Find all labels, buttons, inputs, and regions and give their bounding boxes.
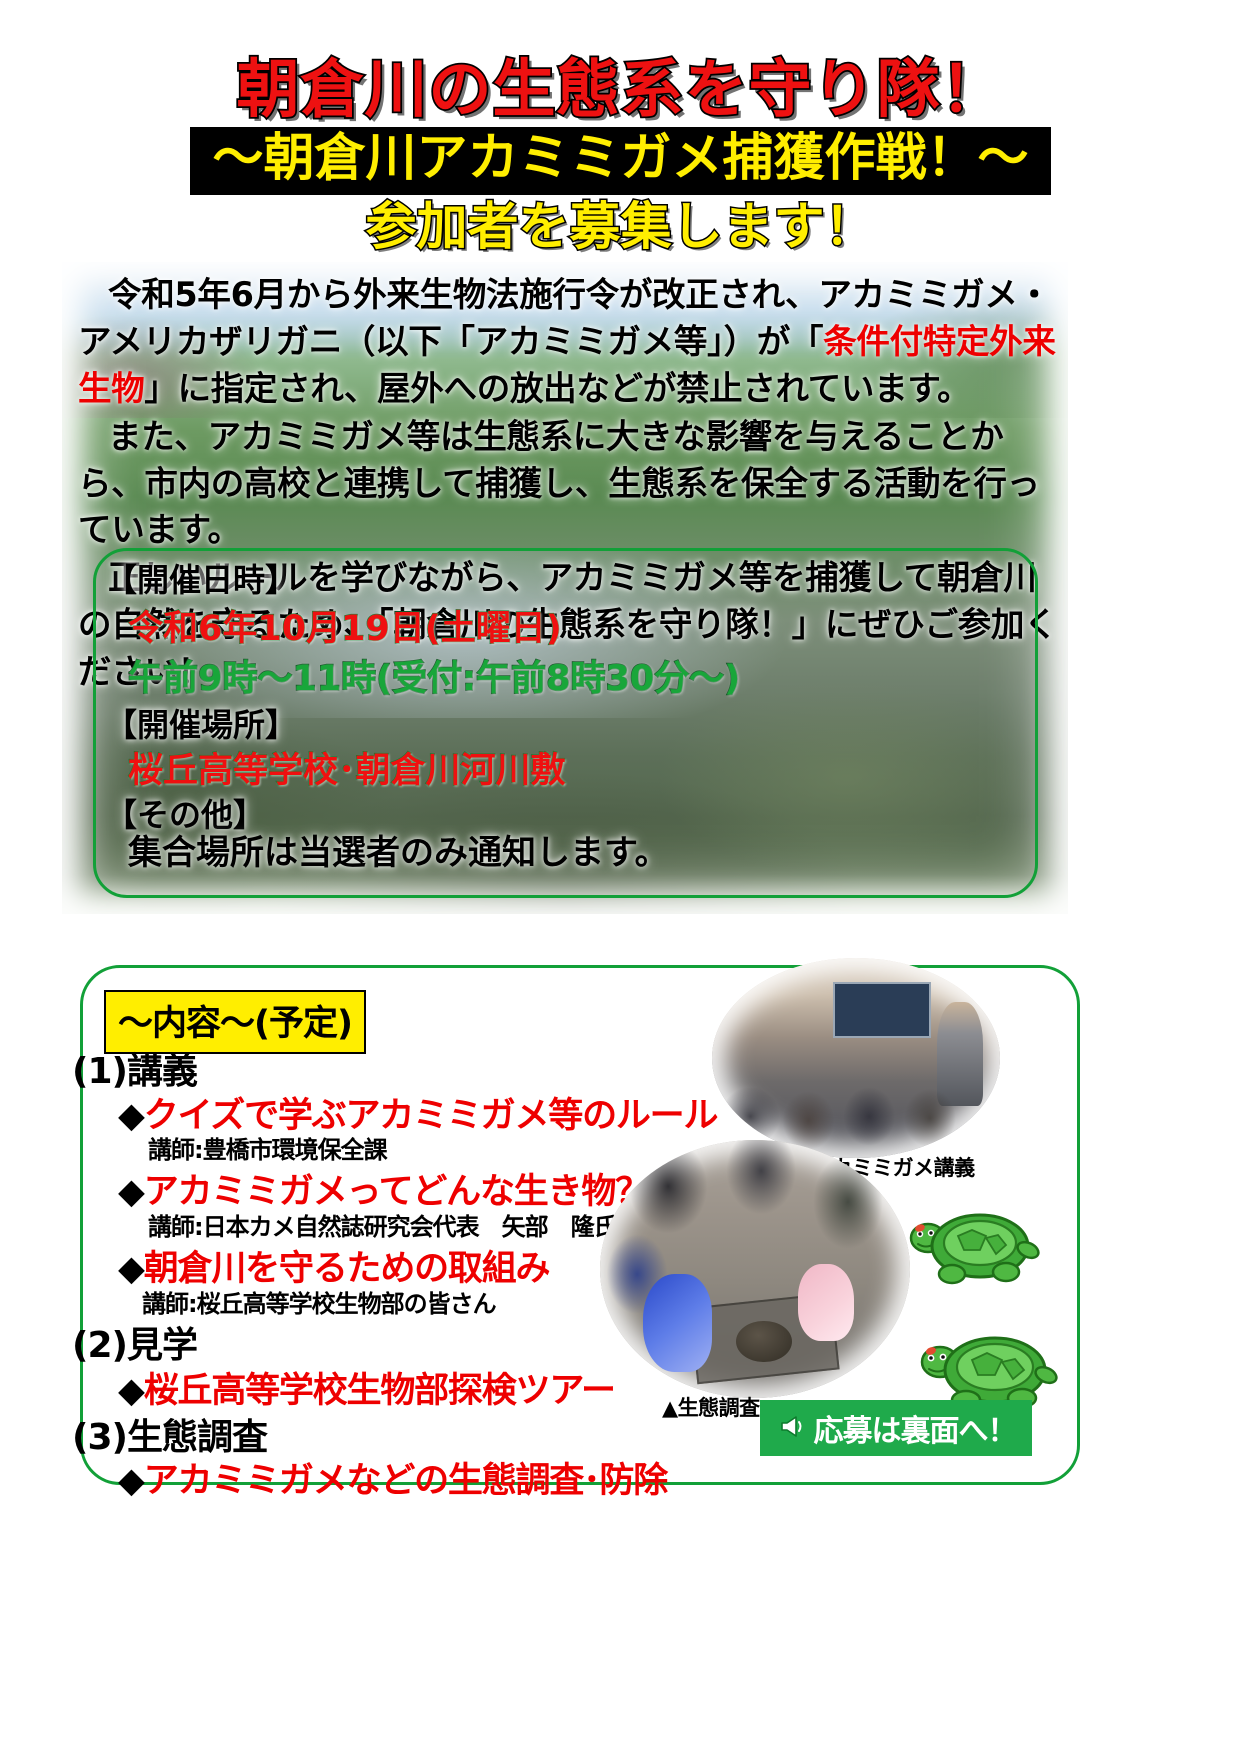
- turtle-illustration-top: [900, 1198, 1040, 1298]
- intro-paragraph-1: 令和5年6月から外来生物法施行令が改正され、アカミミガメ・アメリカザリガニ（以下…: [78, 272, 1063, 413]
- event-place-label: 【開催場所】: [105, 700, 297, 746]
- survey-photo-turtle: [736, 1321, 792, 1362]
- survey-photo-blue-glove: [643, 1274, 711, 1372]
- poster-page: 朝倉川の生態系を守り隊！ 〜朝倉川アカミミガメ捕獲作戦！〜 参加者を募集します！…: [0, 0, 1241, 1754]
- program-item-1-2-lecturer: 講師:日本カメ自然誌研究会代表 矢部 隆氏: [148, 1207, 617, 1242]
- program-item-3-1-text: アカミミガメなどの生態調査･防除: [144, 1461, 667, 1501]
- event-date-value: 令和6年10月19日(土曜日): [128, 600, 562, 651]
- survey-photo-caption: ▲生態調査: [662, 1392, 760, 1422]
- program-item-1-3-lecturer: 講師:桜丘高等学校生物部の皆さん: [142, 1284, 496, 1319]
- apply-back-page-button[interactable]: 応募は裏面へ！: [760, 1400, 1032, 1456]
- program-item-1-1-lecturer: 講師:豊橋市環境保全課: [148, 1130, 387, 1165]
- diamond-bullet-icon: ◆: [118, 1371, 144, 1411]
- program-item-1-3-text: 朝倉川を守るための取組み: [144, 1249, 550, 1289]
- program-item-2-1: ◆桜丘高等学校生物部探検ツアー: [118, 1362, 615, 1413]
- program-section-2-number: (2)見学: [72, 1316, 197, 1368]
- survey-photo: [600, 1140, 910, 1398]
- diamond-bullet-icon: ◆: [118, 1249, 144, 1289]
- title-banner: 〜朝倉川アカミミガメ捕獲作戦！〜: [190, 127, 1050, 195]
- intro-p1-part-b: 」に指定され、屋外への放出などが禁止されています。: [144, 369, 970, 408]
- survey-photo-pink-glove: [798, 1264, 854, 1341]
- event-place-value: 桜丘高等学校･朝倉川河川敷: [128, 742, 566, 793]
- title-line-1: 朝倉川の生態系を守り隊！: [0, 58, 1241, 121]
- program-item-3-1: ◆アカミミガメなどの生態調査･防除: [118, 1452, 667, 1503]
- intro-p2-text: また、アカミミガメ等は生態系に大きな影響を与えることから、市内の高校と連携して捕…: [78, 417, 1040, 550]
- title-line-3: 参加者を募集します！: [0, 201, 1241, 255]
- intro-paragraph-2: また、アカミミガメ等は生態系に大きな影響を与えることから、市内の高校と連携して捕…: [78, 414, 1063, 555]
- lecture-photo-audience: [724, 1066, 989, 1150]
- program-item-2-1-text: 桜丘高等学校生物部探検ツアー: [144, 1371, 615, 1411]
- diamond-bullet-icon: ◆: [118, 1096, 144, 1136]
- diamond-bullet-icon: ◆: [118, 1461, 144, 1501]
- diamond-bullet-icon: ◆: [118, 1172, 144, 1212]
- event-time-value: 午前9時〜11時(受付:午前8時30分〜): [128, 650, 740, 701]
- program-item-1-2-text: アカミミガメってどんな生き物？: [144, 1172, 649, 1212]
- apply-button-label: 応募は裏面へ！: [814, 1406, 1017, 1450]
- megaphone-icon: [776, 1411, 806, 1445]
- lecture-photo: [712, 958, 1000, 1158]
- event-other-value: 集合場所は当選者のみ通知します。: [128, 825, 669, 874]
- event-datetime-label: 【開催日時】: [105, 555, 297, 601]
- title-line-2: 〜朝倉川アカミミガメ捕獲作戦！〜: [212, 132, 1028, 186]
- poster-title-block: 朝倉川の生態系を守り隊！ 〜朝倉川アカミミガメ捕獲作戦！〜 参加者を募集します！: [0, 58, 1241, 254]
- lecture-photo-screen: [833, 982, 931, 1038]
